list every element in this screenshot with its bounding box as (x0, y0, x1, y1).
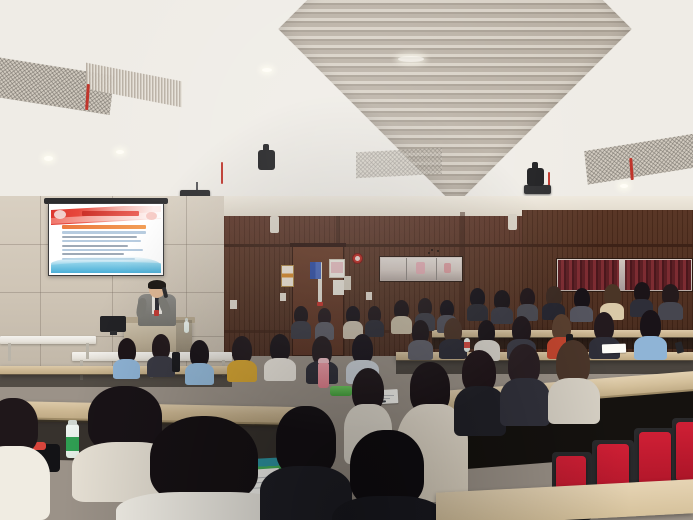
slide-subtitle-text (62, 225, 146, 229)
downlight (398, 56, 424, 62)
wall-plate (230, 300, 237, 309)
wall-plate (366, 292, 372, 300)
downlight (116, 150, 124, 154)
curtain-gap-light (619, 260, 625, 290)
open-notebook (602, 344, 626, 354)
student-torso (491, 307, 513, 324)
presenter-lanyard (154, 310, 159, 316)
window-mullion (436, 258, 437, 280)
wall-speaker-right (508, 214, 517, 230)
podium-monitor (100, 316, 126, 332)
student-torso (291, 321, 311, 339)
student-torso (185, 363, 214, 385)
wall-plate (280, 293, 286, 301)
slide-body-row (62, 231, 146, 233)
desk-row-nearest (436, 479, 693, 520)
student-torso (147, 356, 175, 377)
podium-monitor-stand (110, 331, 117, 335)
slide-body-row (62, 249, 143, 251)
student-torso (391, 316, 412, 334)
downlight (262, 68, 272, 72)
door-frame-top (290, 243, 346, 247)
student-torso (634, 336, 667, 360)
pink-tumbler-cap (318, 358, 329, 363)
notice-white-lower (333, 280, 344, 295)
student-torso (500, 378, 550, 426)
front-table-left-leg (8, 343, 11, 361)
ceiling (0, 0, 693, 215)
student-torso (408, 340, 433, 360)
presenter (130, 280, 190, 324)
student-torso (658, 302, 683, 320)
rear-left-window (437, 250, 439, 252)
student-torso (454, 386, 506, 436)
slide-title-text (82, 211, 139, 216)
student-torso (365, 320, 384, 337)
speaker-pod-left-mount (263, 144, 269, 152)
wall-speaker (270, 216, 279, 233)
wall-seam (0, 292, 236, 293)
corridor-window-left (428, 252, 430, 254)
notice-small-right (344, 276, 351, 290)
notice-blue (310, 262, 321, 279)
sprinkler-pipe-centre (221, 162, 223, 184)
student-torso (113, 359, 140, 379)
water-bottle-cap (68, 420, 77, 425)
presentation-slide (51, 206, 161, 273)
student-hair (150, 416, 258, 502)
air-vent-centre (356, 148, 442, 179)
student-torso (548, 378, 600, 424)
slide-body-row (62, 245, 128, 247)
black-thermos (172, 352, 180, 372)
projection-screen[interactable] (48, 203, 164, 276)
window-mullion (406, 258, 407, 280)
corridor-window-object (416, 262, 425, 274)
student-torso (467, 304, 488, 321)
corridor-window-object (444, 263, 451, 273)
fire-alarm-inner (355, 256, 360, 261)
door-handle-tip (317, 302, 323, 306)
slide-wave-graphic-front (51, 262, 161, 273)
slide-body-row (62, 236, 137, 238)
lecture-hall-photograph (0, 0, 693, 520)
slide-accent-dot-right (146, 212, 157, 220)
curtain-panel (624, 260, 691, 290)
student-torso (0, 446, 50, 520)
student-torso (227, 360, 257, 382)
student-hair (350, 430, 424, 506)
speaker-pod-right (527, 168, 544, 186)
water-bottle-label (464, 342, 470, 348)
green-pencil-case (330, 386, 352, 396)
pink-tumbler (318, 362, 329, 388)
downlight (44, 156, 53, 161)
front-table-left-leg (86, 343, 89, 359)
front-table-left (0, 336, 96, 344)
student-torso (570, 306, 593, 322)
student-torso (264, 358, 296, 381)
water-bottle-label (66, 437, 79, 451)
slide-body-row (62, 240, 141, 242)
projector-right (524, 185, 551, 194)
student-torso (439, 339, 467, 359)
downlight (620, 184, 628, 188)
notice-orange (281, 265, 294, 287)
side-window-left (431, 249, 433, 251)
speaker-pod-left (258, 150, 275, 170)
speaker-pod-right-mount (532, 162, 538, 170)
notice-pink (331, 262, 343, 273)
auditorium-seat[interactable] (676, 422, 693, 480)
